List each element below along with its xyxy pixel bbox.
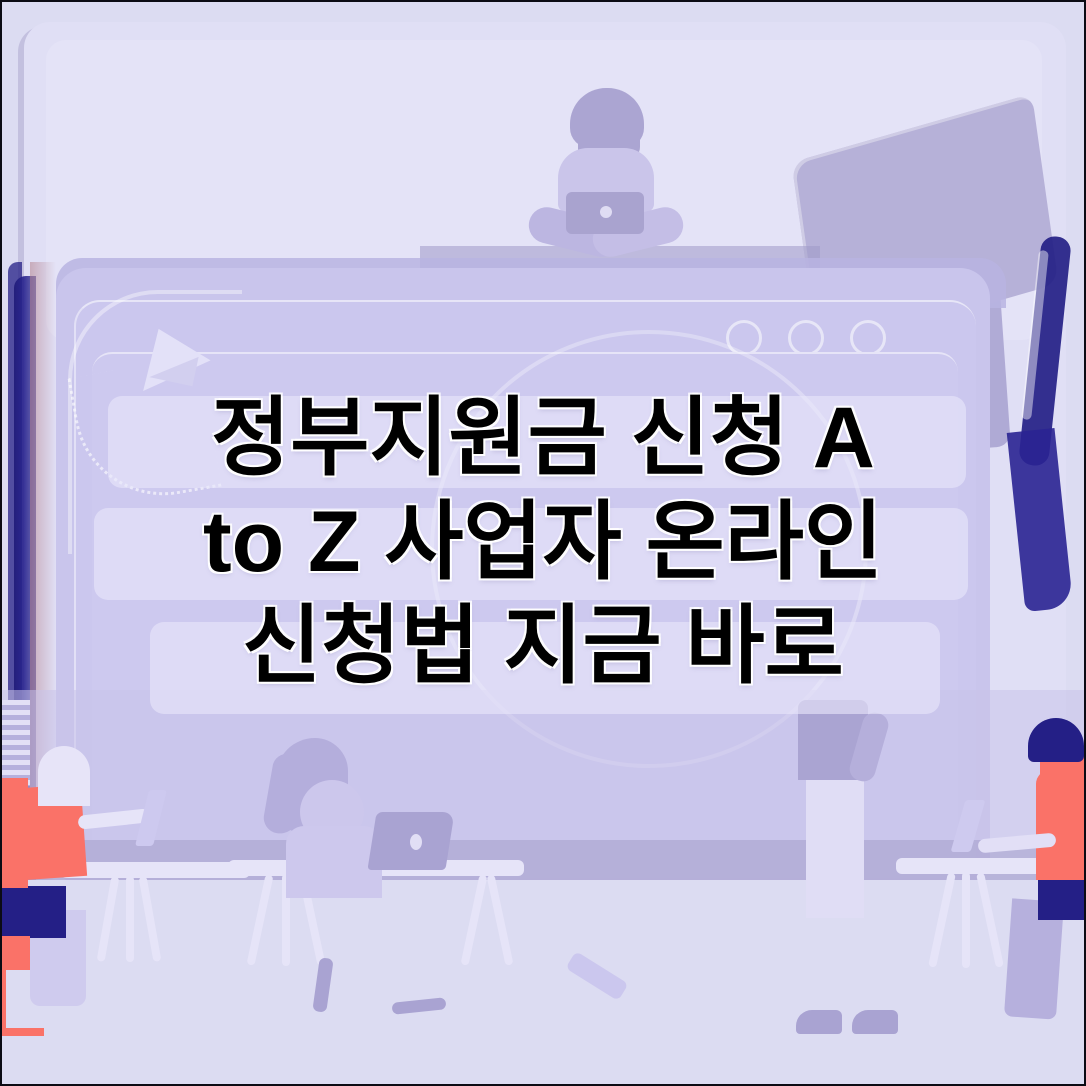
standing-person-shoe-right: [852, 1010, 898, 1034]
accent-coral-block-2: [0, 936, 30, 970]
page-title: 정부지원금 신청 A to Z 사업자 온라인 신청법 지금 바로: [0, 386, 1086, 698]
browser-dot-2-icon: [788, 320, 824, 356]
accent-stripes: [0, 700, 30, 786]
standing-person-shoe-left: [796, 1010, 842, 1034]
accent-coral-bar-horizontal: [0, 1028, 44, 1036]
headline-line-1: 정부지원금 신청 A: [0, 386, 1086, 490]
worker-left-hair: [38, 746, 90, 806]
accent-navy-block-1: [0, 888, 30, 936]
thumbnail-canvas: 정부지원금 신청 A to Z 사업자 온라인 신청법 지금 바로: [0, 0, 1086, 1086]
floor: [0, 880, 1086, 1086]
laptop-logo-dot: [600, 206, 612, 218]
headline-line-2: to Z 사업자 온라인: [0, 490, 1086, 594]
desk-left: [60, 862, 250, 878]
headline-line-3: 신청법 지금 바로: [0, 594, 1086, 698]
desk-right-leg-b: [962, 872, 970, 968]
worker-right-seat: [1038, 876, 1086, 920]
browser-dot-3-icon: [850, 320, 886, 356]
standing-person-legs: [806, 772, 864, 918]
accent-coral-block-1: [0, 778, 28, 888]
worker-center-laptop-logo: [410, 834, 422, 850]
desk-left-leg-b: [126, 876, 134, 962]
accent-coral-bar-vertical: [0, 968, 6, 1034]
